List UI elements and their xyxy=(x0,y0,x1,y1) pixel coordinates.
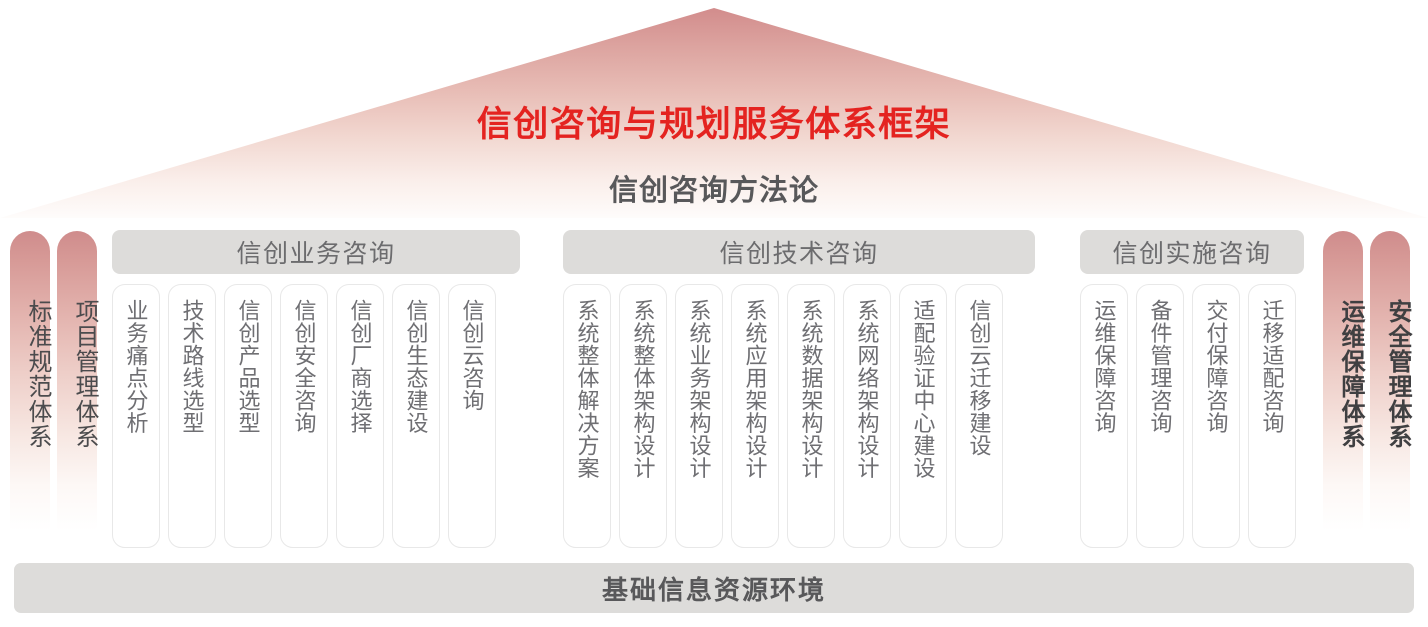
diagram-canvas: 信创咨询与规划服务体系框架 信创咨询方法论 标准规范体系 项目管理体系 信创业务… xyxy=(0,0,1428,627)
card-item[interactable]: 系统应用架构设计 xyxy=(731,284,779,548)
card-label: 系统业务架构设计 xyxy=(686,299,711,547)
card-item[interactable]: 信创云迁移建设 xyxy=(955,284,1003,548)
card-label: 系统网络架构设计 xyxy=(854,299,879,547)
card-item[interactable]: 备件管理咨询 xyxy=(1136,284,1184,548)
card-label: 运维保障咨询 xyxy=(1091,299,1116,547)
card-item[interactable]: 系统整体架构设计 xyxy=(619,284,667,548)
card-item[interactable]: 信创生态建设 xyxy=(392,284,440,548)
pillar-ops-guarantee-system[interactable]: 运维保障体系 xyxy=(1323,231,1363,531)
pillar-label: 项目管理体系 xyxy=(57,299,97,449)
group-card-list: 业务痛点分析 技术路线选型 信创产品选型 信创安全咨询 信创厂商选择 信创生态建… xyxy=(112,284,496,548)
card-item[interactable]: 交付保障咨询 xyxy=(1192,284,1240,548)
card-label: 信创安全咨询 xyxy=(291,299,316,547)
card-item[interactable]: 技术路线选型 xyxy=(168,284,216,548)
card-label: 信创生态建设 xyxy=(403,299,428,547)
group-business-consulting: 信创业务咨询 业务痛点分析 技术路线选型 信创产品选型 信创安全咨询 信创厂商选… xyxy=(112,230,520,274)
card-item[interactable]: 信创厂商选择 xyxy=(336,284,384,548)
card-label: 业务痛点分析 xyxy=(123,299,148,547)
page-title: 信创咨询与规划服务体系框架 xyxy=(0,96,1428,147)
card-label: 迁移适配咨询 xyxy=(1259,299,1284,547)
card-label: 适配验证中心建设 xyxy=(910,299,935,547)
card-item[interactable]: 系统业务架构设计 xyxy=(675,284,723,548)
card-label: 信创厂商选择 xyxy=(347,299,372,547)
card-item[interactable]: 信创安全咨询 xyxy=(280,284,328,548)
card-item[interactable]: 信创产品选型 xyxy=(224,284,272,548)
group-card-list: 系统整体解决方案 系统整体架构设计 系统业务架构设计 系统应用架构设计 系统数据… xyxy=(563,284,1003,548)
group-implementation-consulting: 信创实施咨询 运维保障咨询 备件管理咨询 交付保障咨询 迁移适配咨询 xyxy=(1080,230,1304,274)
card-item[interactable]: 系统网络架构设计 xyxy=(843,284,891,548)
card-label: 交付保障咨询 xyxy=(1203,299,1228,547)
pillar-label: 安全管理体系 xyxy=(1370,299,1410,449)
card-item[interactable]: 业务痛点分析 xyxy=(112,284,160,548)
card-item[interactable]: 信创云咨询 xyxy=(448,284,496,548)
card-item[interactable]: 系统数据架构设计 xyxy=(787,284,835,548)
group-header[interactable]: 信创实施咨询 xyxy=(1080,230,1304,274)
card-item[interactable]: 系统整体解决方案 xyxy=(563,284,611,548)
foundation-bar[interactable]: 基础信息资源环境 xyxy=(14,563,1414,613)
pillar-security-management-system[interactable]: 安全管理体系 xyxy=(1370,231,1410,531)
pillar-project-management-system[interactable]: 项目管理体系 xyxy=(57,231,97,531)
pillar-standard-spec-system[interactable]: 标准规范体系 xyxy=(10,231,50,531)
card-label: 技术路线选型 xyxy=(179,299,204,547)
card-label: 系统整体架构设计 xyxy=(630,299,655,547)
card-item[interactable]: 适配验证中心建设 xyxy=(899,284,947,548)
card-item[interactable]: 运维保障咨询 xyxy=(1080,284,1128,548)
card-item[interactable]: 迁移适配咨询 xyxy=(1248,284,1296,548)
pillar-label: 运维保障体系 xyxy=(1323,299,1363,449)
card-label: 信创云迁移建设 xyxy=(966,299,991,547)
group-header[interactable]: 信创业务咨询 xyxy=(112,230,520,274)
card-label: 系统应用架构设计 xyxy=(742,299,767,547)
group-card-list: 运维保障咨询 备件管理咨询 交付保障咨询 迁移适配咨询 xyxy=(1080,284,1296,548)
card-label: 信创产品选型 xyxy=(235,299,260,547)
card-label: 备件管理咨询 xyxy=(1147,299,1172,547)
card-label: 系统数据架构设计 xyxy=(798,299,823,547)
group-header[interactable]: 信创技术咨询 xyxy=(563,230,1035,274)
page-subtitle: 信创咨询方法论 xyxy=(0,167,1428,209)
card-label: 信创云咨询 xyxy=(459,299,484,547)
pillar-label: 标准规范体系 xyxy=(10,299,50,449)
group-technical-consulting: 信创技术咨询 系统整体解决方案 系统整体架构设计 系统业务架构设计 系统应用架构… xyxy=(563,230,1035,274)
card-label: 系统整体解决方案 xyxy=(574,299,599,547)
